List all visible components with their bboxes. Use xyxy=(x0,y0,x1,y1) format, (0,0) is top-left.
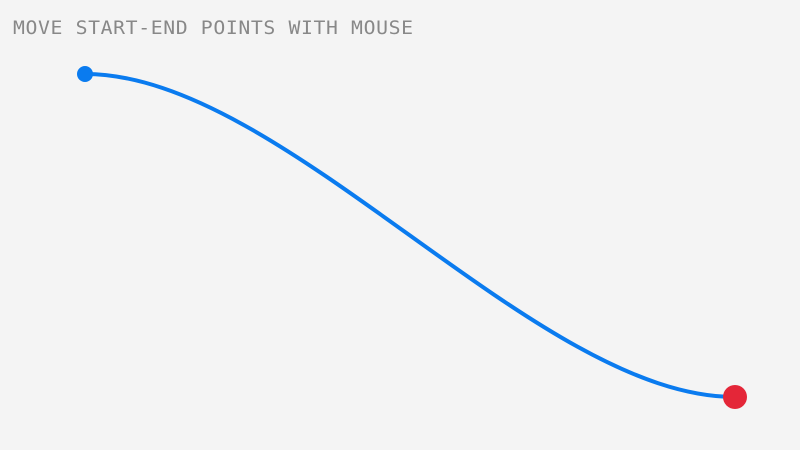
end-point-handle[interactable] xyxy=(723,385,747,409)
start-point-handle[interactable] xyxy=(77,66,93,82)
page-title: MOVE START-END POINTS WITH MOUSE xyxy=(13,17,414,39)
curve-canvas[interactable] xyxy=(0,0,800,450)
bezier-curve-svg xyxy=(0,0,800,450)
app-root: MOVE START-END POINTS WITH MOUSE xyxy=(0,0,800,450)
bezier-curve-path xyxy=(85,74,735,397)
